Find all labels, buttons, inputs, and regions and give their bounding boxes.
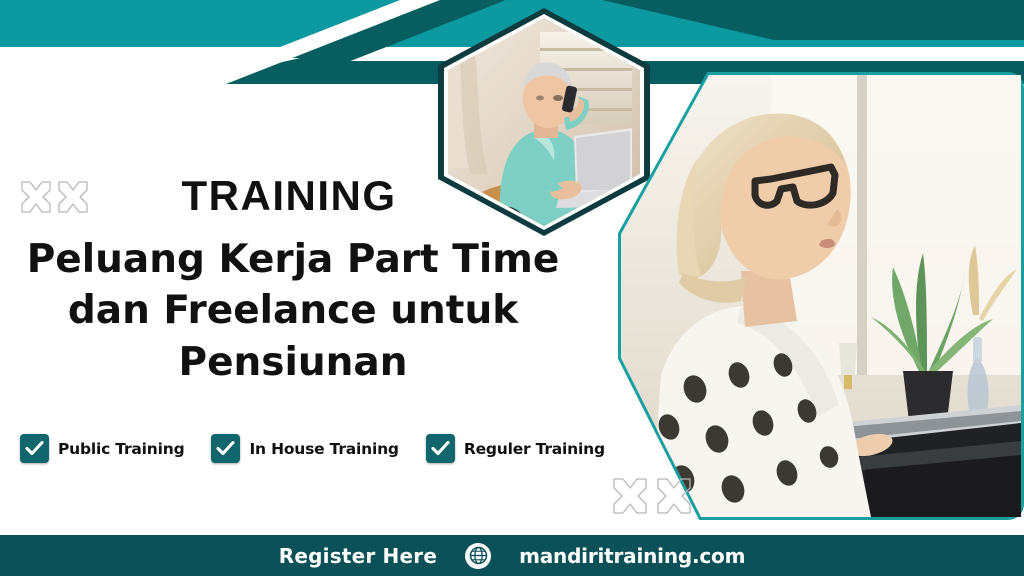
checklist-item-public-training[interactable]: Public Training <box>20 434 184 463</box>
x-mark-outline-icon <box>614 479 646 513</box>
right-photo-panel <box>618 72 1024 520</box>
x-mark-outline-icon <box>22 182 50 212</box>
checklist-label: Public Training <box>58 440 184 458</box>
register-here-label[interactable]: Register Here <box>279 544 437 568</box>
x-mark-outline-icon-group-left <box>14 178 96 222</box>
globe-icon <box>465 543 491 569</box>
senior-woman-typing-on-laptop-photo <box>621 75 1021 517</box>
page-title: Peluang Kerja Part Time dan Freelance un… <box>0 234 586 388</box>
x-mark-outline-icon <box>658 479 690 513</box>
website-url-label[interactable]: mandiritraining.com <box>519 544 745 568</box>
checklist-label: Reguler Training <box>464 440 605 458</box>
training-poster: TRAINING Peluang Kerja Part Time dan Fre… <box>0 0 1024 576</box>
x-mark-outline-icon-group-right <box>608 474 704 524</box>
check-icon[interactable] <box>426 434 455 463</box>
footer-bar: Register Here mandiritraining.com <box>0 535 1024 576</box>
checklist-item-in-house-training[interactable]: In House Training <box>211 434 398 463</box>
checklist-item-reguler-training[interactable]: Reguler Training <box>426 434 605 463</box>
checklist-label: In House Training <box>249 440 398 458</box>
training-type-checklist: Public Training In House Training Regule… <box>20 434 605 463</box>
x-mark-outline-icon <box>59 182 87 212</box>
check-icon[interactable] <box>20 434 49 463</box>
check-icon[interactable] <box>211 434 240 463</box>
